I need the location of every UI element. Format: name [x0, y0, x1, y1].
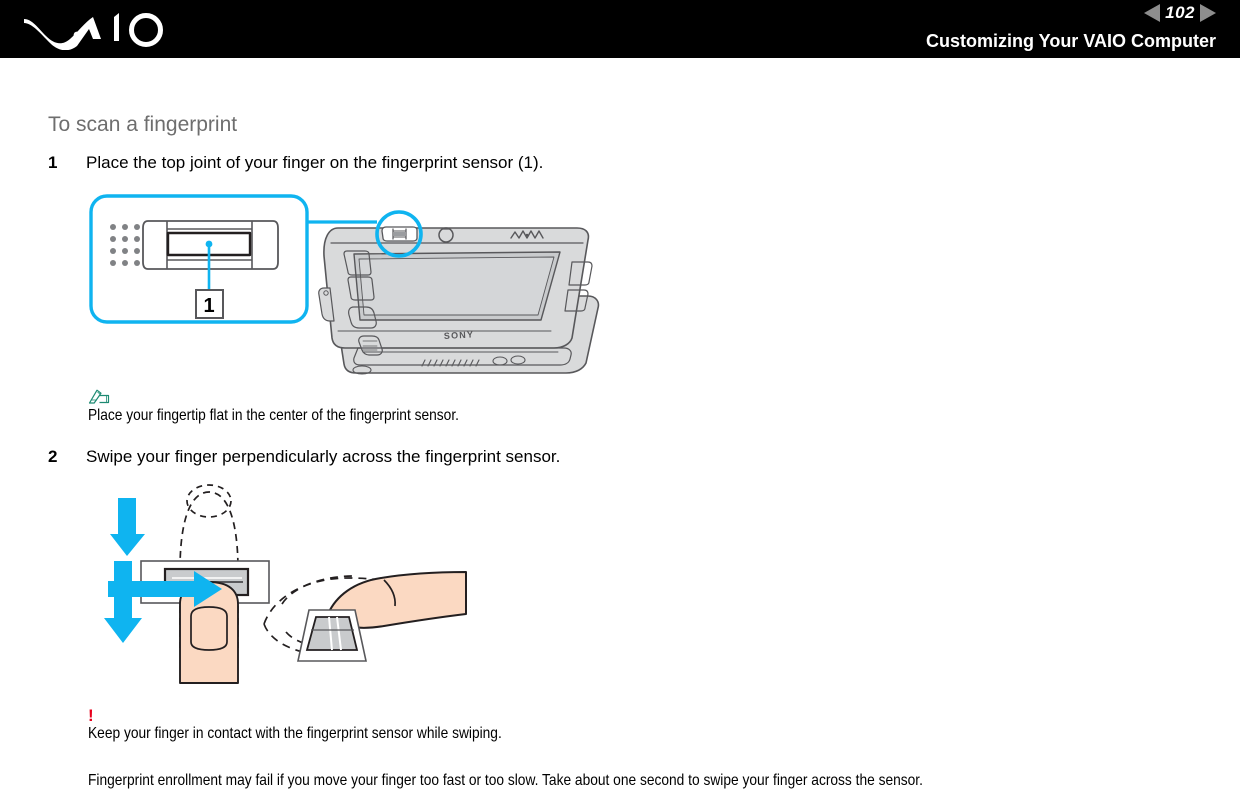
- swipe-down-arrow-icon: [104, 561, 142, 643]
- step-text-1: Place the top joint of your finger on th…: [86, 153, 543, 172]
- body-paragraph-block: Fingerprint enrollment may fail if you m…: [88, 771, 1208, 791]
- prev-page-arrow-icon[interactable]: [1144, 4, 1160, 22]
- swipe-down-arrow-icon-side: [110, 498, 145, 556]
- warning-block: ! Keep your finger in contact with the f…: [88, 708, 1188, 744]
- page-navigation: 102: [796, 2, 1216, 24]
- vaio-logo: [22, 8, 182, 50]
- header-right-group: 102 Customizing Your VAIO Computer: [796, 2, 1216, 52]
- warning-text: Keep your finger in contact with the fin…: [88, 724, 1034, 744]
- note-text: Place your fingertip flat in the center …: [88, 406, 1034, 426]
- step-item-1: 1Place the top joint of your finger on t…: [48, 152, 1198, 174]
- callout-number-1: 1: [196, 290, 223, 318]
- step-number-2: 2: [48, 446, 86, 468]
- page-number: 102: [1165, 4, 1195, 22]
- page-header: 102 Customizing Your VAIO Computer: [0, 0, 1240, 58]
- next-page-arrow-icon[interactable]: [1200, 4, 1216, 22]
- step-item-2: 2Swipe your finger perpendicularly acros…: [48, 446, 1198, 468]
- section-heading: To scan a fingerprint: [48, 112, 237, 138]
- svg-text:1: 1: [203, 295, 214, 317]
- exclamation-mark-icon: !: [88, 708, 1188, 724]
- svg-text:SONY: SONY: [444, 329, 475, 341]
- fingerprint-sensor-location-diagram: SONY: [86, 188, 606, 376]
- pencil-note-icon: [88, 388, 110, 405]
- body-paragraph: Fingerprint enrollment may fail if you m…: [88, 771, 1051, 791]
- finger-swipe-direction-diagram: [96, 478, 636, 700]
- page-title: Customizing Your VAIO Computer: [796, 30, 1216, 52]
- note-block: Place your fingertip flat in the center …: [88, 388, 1188, 426]
- step-text-2: Swipe your finger perpendicularly across…: [86, 447, 560, 466]
- step-number-1: 1: [48, 152, 86, 174]
- page-content: To scan a fingerprint 1Place the top joi…: [0, 58, 1240, 794]
